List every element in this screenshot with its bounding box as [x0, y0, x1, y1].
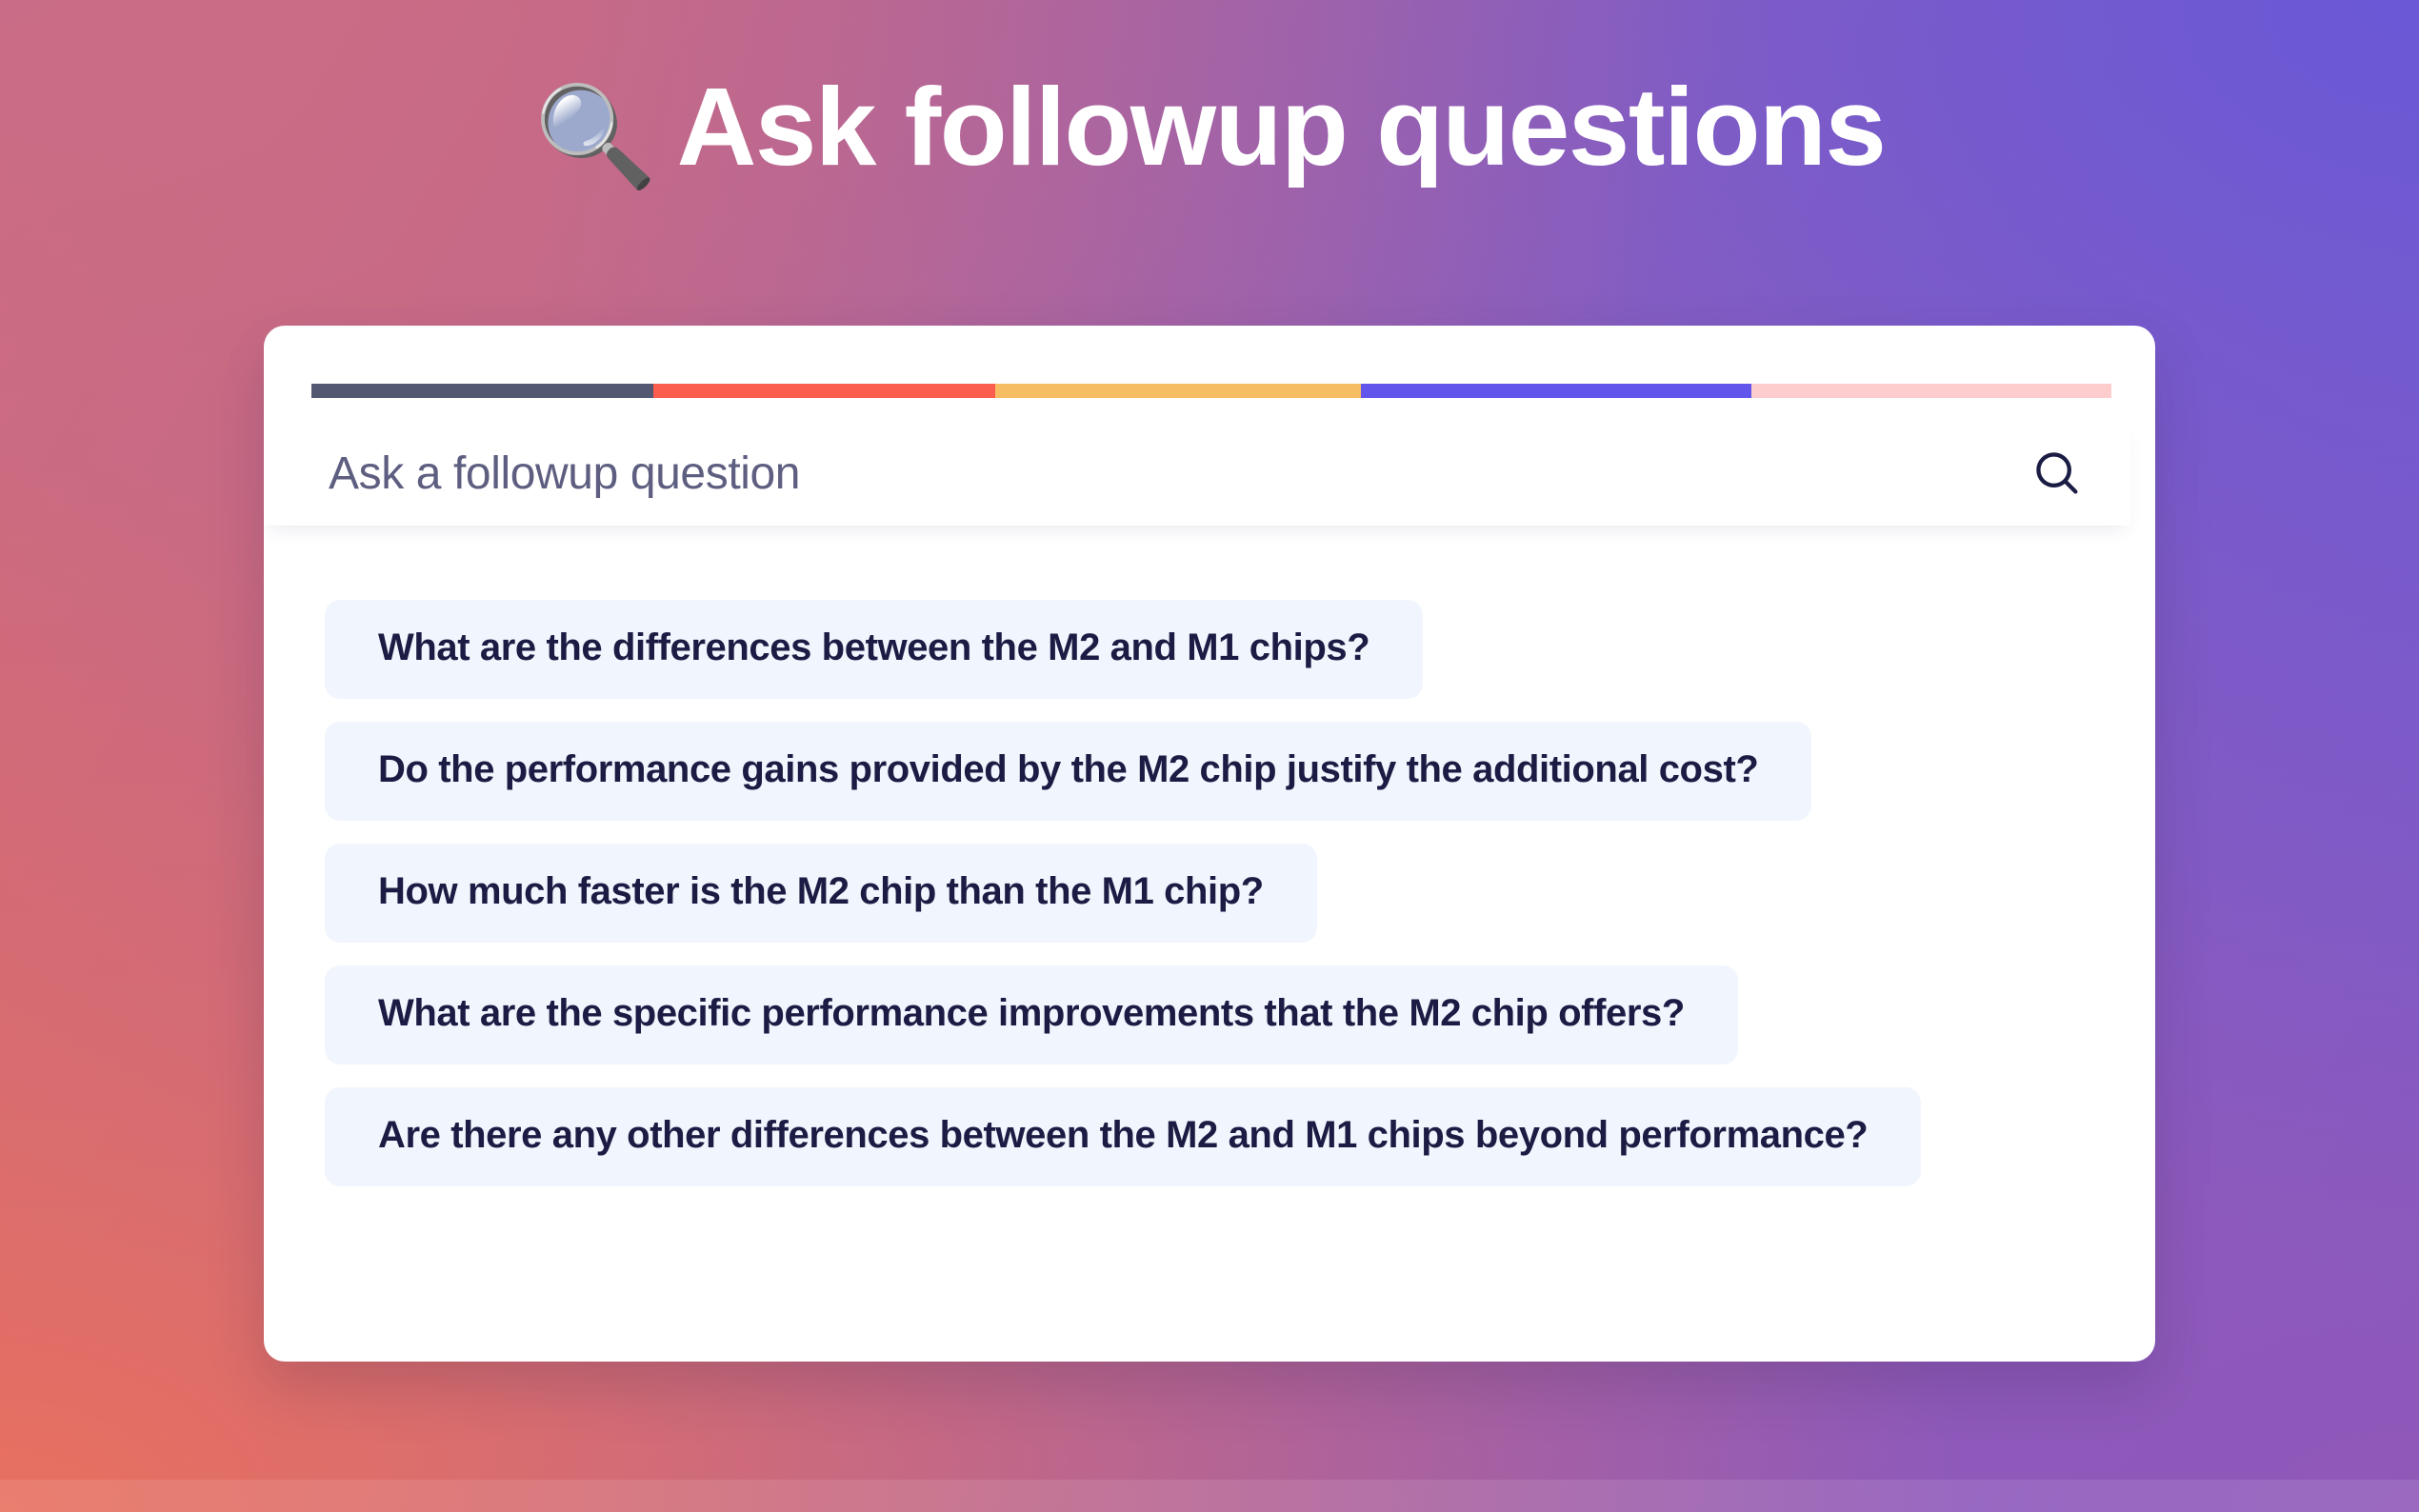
followup-card: What are the differences between the M2 …: [264, 326, 2155, 1362]
accent-color-bar: [311, 384, 2111, 398]
accent-segment-indigo: [1361, 384, 1751, 398]
suggestion-chip[interactable]: What are the differences between the M2 …: [325, 600, 1423, 699]
suggestion-chip[interactable]: How much faster is the M2 chip than the …: [325, 844, 1317, 943]
page-title-text: Ask followup questions: [677, 65, 1886, 189]
search-icon[interactable]: [2031, 448, 2083, 499]
suggestion-chip[interactable]: What are the specific performance improv…: [325, 965, 1738, 1064]
accent-segment-pink: [1751, 384, 2111, 398]
accent-segment-coral: [653, 384, 995, 398]
search-bar[interactable]: [264, 421, 2130, 526]
suggestion-chip[interactable]: Are there any other differences between …: [325, 1087, 1921, 1186]
page-title: 🔍Ask followup questions: [0, 55, 2419, 202]
magnifying-glass-icon: 🔍: [534, 82, 656, 192]
accent-segment-slate: [311, 384, 653, 398]
search-input[interactable]: [329, 448, 2009, 500]
accent-segment-yellow: [995, 384, 1361, 398]
bottom-edge-band: [0, 1480, 2419, 1512]
suggestion-list: What are the differences between the M2 …: [325, 600, 2113, 1186]
suggestion-chip[interactable]: Do the performance gains provided by the…: [325, 722, 1811, 821]
